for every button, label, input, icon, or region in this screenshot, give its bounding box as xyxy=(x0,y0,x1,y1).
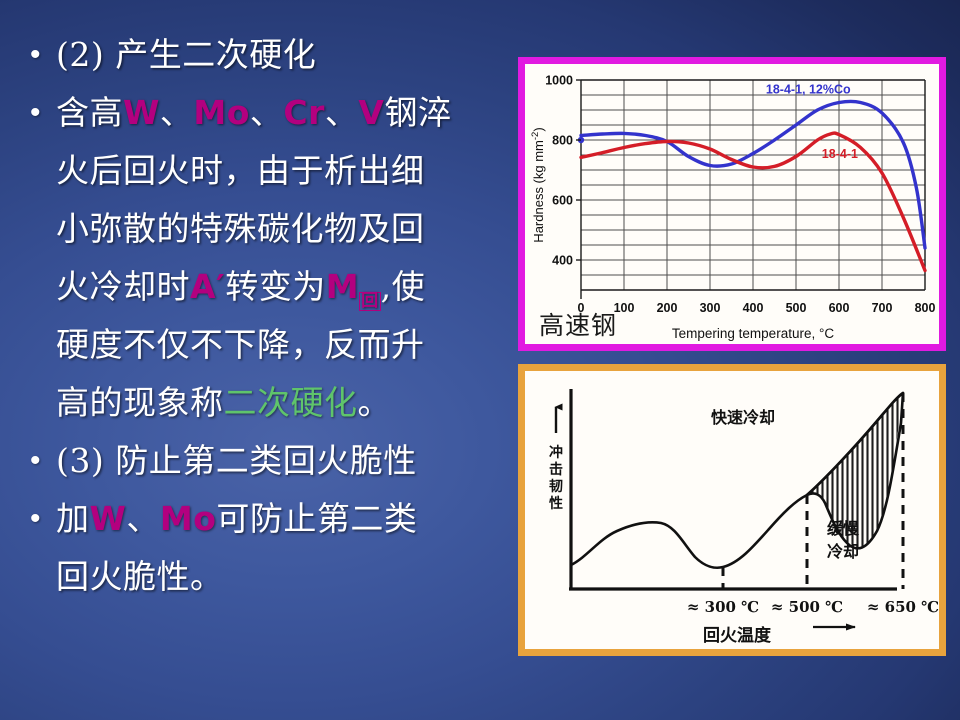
series-label: 18-4-1, 12%Co xyxy=(766,83,851,97)
hardness-chart-plot-area: 18-4-1, 12%Co18-4-1 40060080010000100200… xyxy=(525,64,939,344)
bullet-continuation-line: •回火脆性。 xyxy=(0,548,512,606)
plain-text-run: (2) 产生二次硬化 xyxy=(56,35,316,74)
bullet-continuation-line: •小弥散的特殊碳化物及回 xyxy=(0,200,512,258)
impact-x-axis-title: 回火温度 xyxy=(703,625,772,646)
plain-text-run: 、 xyxy=(325,93,359,132)
bullet-line-text: 火冷却时A′转变为M回,使 xyxy=(56,258,425,316)
y-axis-title: Hardness (kg mm-2) xyxy=(530,127,547,242)
bullet-line-text: 硬度不仅不下降，反而升 xyxy=(56,316,425,374)
impact-chart-plot-area: ≈ 300 ℃≈ 500 ℃≈ 650 ℃回火温度冲击韧性快速冷却缓慢冷却 xyxy=(525,371,939,649)
y-tick-label: 1000 xyxy=(545,74,573,88)
emphasis-element-symbol: W xyxy=(123,93,160,132)
bullet-text-block: •(2) 产生二次硬化•含高W、Mo、Cr、V钢淬•火后回火时，由于析出细•小弥… xyxy=(0,26,512,686)
emphasis-element-symbol: Mo xyxy=(193,93,250,132)
impact-x-tick-label: ≈ 500 ℃ xyxy=(771,598,843,616)
bullet-marker-icon: • xyxy=(30,26,56,84)
emphasis-secondary-hardening: 二次硬化 xyxy=(224,383,358,422)
bullet-line-text: 回火脆性。 xyxy=(56,548,224,606)
bullet-continuation-line: •火后回火时，由于析出细 xyxy=(0,142,512,200)
x-tick-label: 400 xyxy=(743,301,764,315)
x-tick-label: 200 xyxy=(657,301,678,315)
y-tick-label: 600 xyxy=(552,194,573,208)
impact-toughness-chart: ≈ 300 ℃≈ 500 ℃≈ 650 ℃回火温度冲击韧性快速冷却缓慢冷却 xyxy=(518,364,946,656)
high-speed-steel-label: 高速钢 xyxy=(539,313,617,338)
emphasis-element-symbol: Mo xyxy=(160,499,217,538)
emphasis-element-symbol: A′ xyxy=(190,267,225,306)
plain-text-run: ,使 xyxy=(381,267,426,306)
bullet-marker-icon: • xyxy=(30,432,56,490)
plain-text-run: 、 xyxy=(160,93,194,132)
bullet-item: •加W、Mo可防止第二类 xyxy=(0,490,512,548)
bullet-line-text: (3) 防止第二类回火脆性 xyxy=(56,432,417,490)
impact-annotation: 冷却 xyxy=(827,542,859,561)
impact-x-tick-label: ≈ 300 ℃ xyxy=(687,598,759,616)
bullet-item: •(2) 产生二次硬化 xyxy=(0,26,512,84)
hardness-chart-svg: 18-4-1, 12%Co18-4-1 40060080010000100200… xyxy=(525,64,939,344)
series-label: 18-4-1 xyxy=(822,147,858,161)
impact-x-tick-label: ≈ 650 ℃ xyxy=(867,598,939,616)
impact-annotation: 缓慢 xyxy=(826,519,860,538)
impact-y-axis-title-char: 韧 xyxy=(549,478,563,495)
bullet-continuation-line: •高的现象称二次硬化。 xyxy=(0,374,512,432)
x-tick-label: 500 xyxy=(786,301,807,315)
plain-text-run: 回火脆性。 xyxy=(56,557,224,596)
plain-text-run: 硬度不仅不下降，反而升 xyxy=(56,325,425,364)
impact-y-axis-title-char: 冲 xyxy=(549,444,563,461)
x-tick-label: 600 xyxy=(829,301,850,315)
x-tick-label: 300 xyxy=(700,301,721,315)
bullet-item: •(3) 防止第二类回火脆性 xyxy=(0,432,512,490)
bullet-line-text: (2) 产生二次硬化 xyxy=(56,26,316,84)
emphasis-element-symbol: V xyxy=(358,93,384,132)
plain-text-run: 加 xyxy=(56,499,90,538)
x-axis-title: Tempering temperature, °C xyxy=(672,326,834,341)
impact-annotation: 快速冷却 xyxy=(711,408,775,427)
plain-text-run: 高的现象称 xyxy=(56,383,224,422)
plain-text-run: 转变为 xyxy=(225,267,326,306)
emphasis-element-symbol: W xyxy=(90,499,127,538)
bullet-line-text: 高的现象称二次硬化。 xyxy=(56,374,391,432)
bullet-item: •含高W、Mo、Cr、V钢淬 xyxy=(0,84,512,142)
plain-text-run: 可防止第二类 xyxy=(216,499,417,538)
subscript-hui: 回 xyxy=(359,292,381,311)
bullet-line-text: 小弥散的特殊碳化物及回 xyxy=(56,200,425,258)
impact-y-axis-title-char: 击 xyxy=(549,461,563,478)
plain-text-run: 、 xyxy=(250,93,284,132)
bullet-continuation-line: •火冷却时A′转变为M回,使 xyxy=(0,258,512,316)
plain-text-run: 、 xyxy=(126,499,160,538)
slide-canvas: •(2) 产生二次硬化•含高W、Mo、Cr、V钢淬•火后回火时，由于析出细•小弥… xyxy=(0,0,960,720)
emphasis-element-symbol: Cr xyxy=(283,93,325,132)
plain-text-run: 含高 xyxy=(56,93,123,132)
plain-text-run: 。 xyxy=(358,383,392,422)
plain-text-run: (3) 防止第二类回火脆性 xyxy=(56,441,417,480)
emphasis-element-symbol: M xyxy=(326,267,359,306)
bullet-marker-icon: • xyxy=(30,490,56,548)
bullet-continuation-line: •硬度不仅不下降，反而升 xyxy=(0,316,512,374)
plain-text-run: 火后回火时，由于析出细 xyxy=(56,151,425,190)
impact-chart-svg: ≈ 300 ℃≈ 500 ℃≈ 650 ℃回火温度冲击韧性快速冷却缓慢冷却 xyxy=(525,371,939,649)
bullet-line-text: 含高W、Mo、Cr、V钢淬 xyxy=(56,84,451,142)
hardness-tempering-chart: 18-4-1, 12%Co18-4-1 40060080010000100200… xyxy=(518,57,946,351)
bullet-marker-icon: • xyxy=(30,84,56,142)
impact-y-axis-title-char: 性 xyxy=(549,495,563,512)
bullet-line-text: 加W、Mo可防止第二类 xyxy=(56,490,417,548)
x-tick-label: 700 xyxy=(872,301,893,315)
y-tick-label: 400 xyxy=(552,254,573,268)
plain-text-run: 钢淬 xyxy=(384,93,451,132)
plain-text-run: 火冷却时 xyxy=(56,267,190,306)
bullet-line-text: 火后回火时，由于析出细 xyxy=(56,142,425,200)
y-tick-label: 800 xyxy=(552,134,573,148)
plain-text-run: 小弥散的特殊碳化物及回 xyxy=(56,209,425,248)
x-tick-label: 800 xyxy=(915,301,936,315)
